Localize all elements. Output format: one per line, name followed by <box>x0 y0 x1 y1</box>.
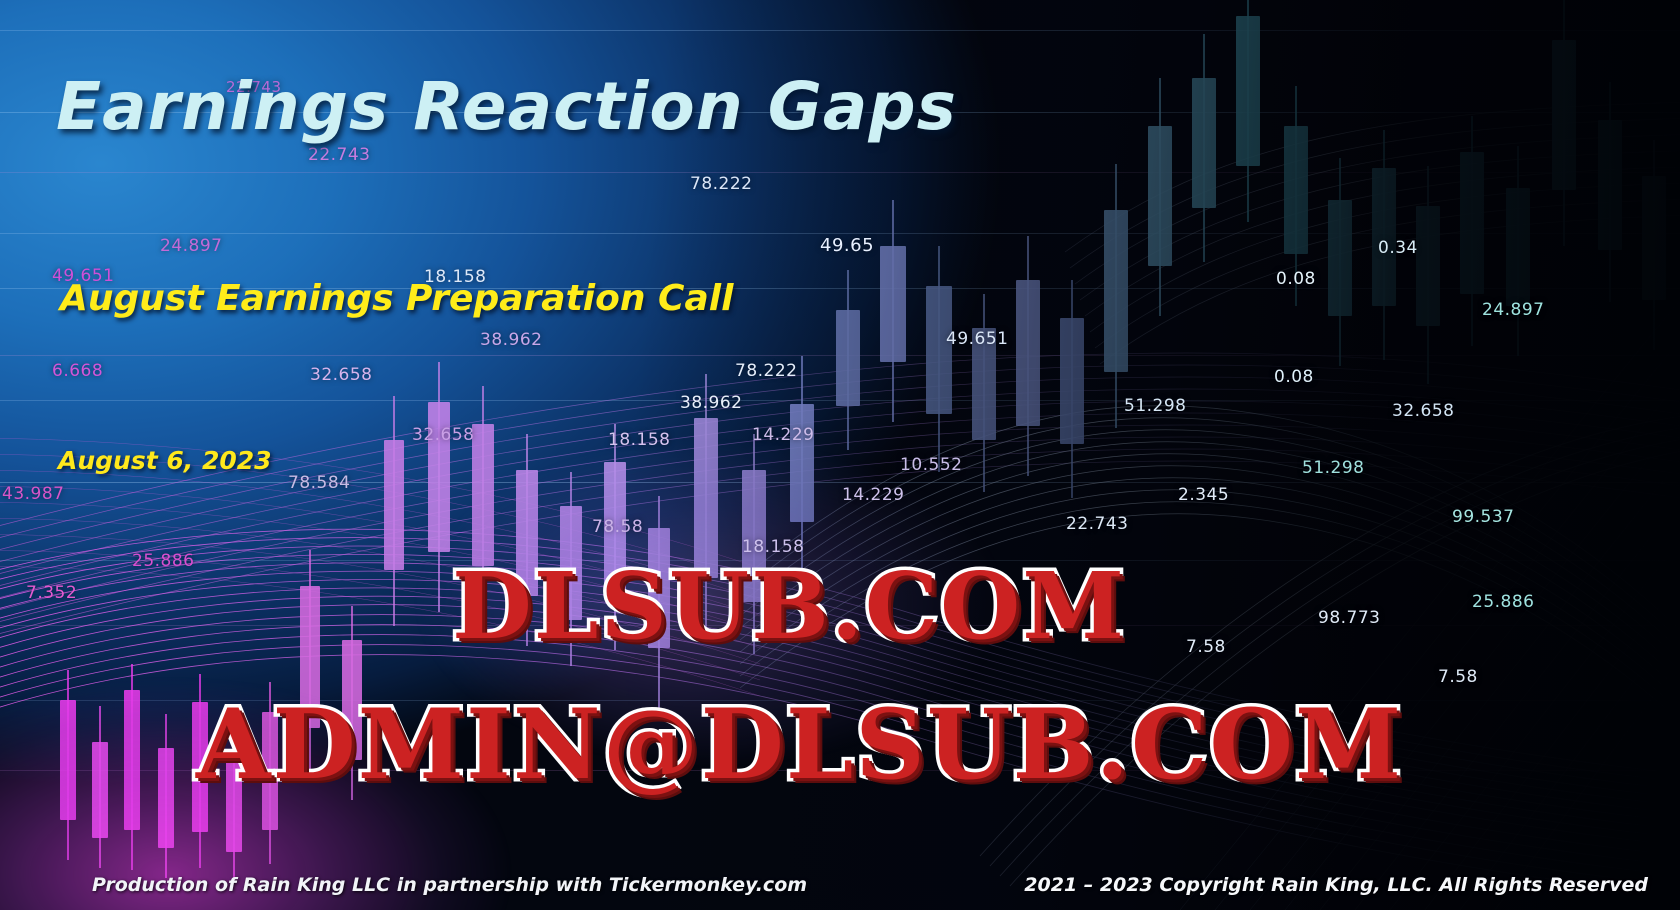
price-label: 32.658 <box>412 425 474 445</box>
price-label: 10.552 <box>900 455 962 475</box>
price-label: 14.229 <box>842 485 904 505</box>
watermark-email: ADMIN@DLSUB.COM <box>196 688 1403 801</box>
price-label: 0.08 <box>1274 367 1314 387</box>
price-label: 7.58 <box>1186 637 1226 657</box>
price-label: 24.897 <box>160 236 222 256</box>
price-label: 38.962 <box>680 393 742 413</box>
price-label: 22.743 <box>1066 514 1128 534</box>
watermark-site: DLSUB.COM <box>452 552 1126 660</box>
price-label: 7.352 <box>26 583 77 603</box>
price-label: 49.651 <box>946 329 1008 349</box>
price-label: 25.886 <box>1472 592 1534 612</box>
subtitle: August Earnings Preparation Call <box>60 278 733 319</box>
price-label: 2.345 <box>1178 485 1229 505</box>
price-label: 24.897 <box>1482 300 1544 320</box>
presentation-slide: 22.74322.74378.22224.89749.65118.15849.6… <box>0 0 1680 910</box>
price-label: 51.298 <box>1302 458 1364 478</box>
price-label: 98.773 <box>1318 608 1380 628</box>
price-label: 0.34 <box>1378 238 1418 258</box>
price-label: 18.158 <box>608 430 670 450</box>
date-label: August 6, 2023 <box>58 446 272 475</box>
price-label: 32.658 <box>310 365 372 385</box>
price-label: 78.222 <box>690 174 752 194</box>
price-label: 14.229 <box>752 425 814 445</box>
price-label: 78.58 <box>592 517 643 537</box>
price-label: 78.584 <box>288 473 350 493</box>
price-label: 49.65 <box>820 235 874 256</box>
page-title: Earnings Reaction Gaps <box>56 68 957 145</box>
price-label: 22.743 <box>308 145 370 165</box>
footer-copyright: 2021 – 2023 Copyright Rain King, LLC. Al… <box>1024 874 1648 896</box>
price-label: 32.658 <box>1392 401 1454 421</box>
price-label: 43.987 <box>2 484 64 504</box>
price-label: 25.886 <box>132 551 194 571</box>
price-label: 0.08 <box>1276 269 1316 289</box>
price-label: 99.537 <box>1452 507 1514 527</box>
price-label: 51.298 <box>1124 396 1186 416</box>
price-label: 38.962 <box>480 330 542 350</box>
footer-production-credit: Production of Rain King LLC in partnersh… <box>92 874 807 896</box>
price-label: 78.222 <box>735 361 797 381</box>
price-label: 7.58 <box>1438 667 1478 687</box>
price-label: 6.668 <box>52 361 103 381</box>
